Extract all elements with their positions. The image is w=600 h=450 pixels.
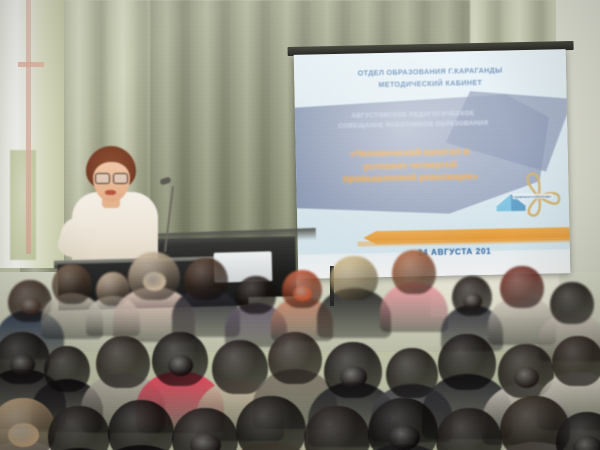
window-sill [18, 62, 44, 67]
audience-head [392, 250, 436, 294]
audience-person [108, 400, 174, 450]
audience-head [500, 266, 544, 308]
audience-head [330, 256, 378, 300]
speaker-glasses [94, 173, 129, 182]
slide-logo-text: ТЕМІРЖОЛ КАРАГАНДЫ [513, 193, 553, 199]
microphone-head [159, 176, 171, 185]
audience-person [392, 250, 436, 364]
audience-head [436, 408, 502, 450]
slide-logo: ТЕМІРЖОЛ КАРАГАНДЫ [492, 169, 563, 232]
window-frame [26, 0, 31, 254]
audience-head [550, 282, 594, 324]
audience-head [96, 336, 150, 388]
audience-head [44, 346, 90, 392]
audience-person [556, 412, 600, 450]
audience-hair-bun [20, 298, 40, 315]
audience-head [48, 406, 110, 450]
audience-head [304, 406, 370, 450]
audience-hair-bun [8, 423, 38, 447]
audience-head [438, 334, 496, 390]
audience [0, 236, 600, 450]
audience-person [236, 396, 306, 450]
audience-hair-bun [388, 425, 420, 450]
audience-person [304, 406, 370, 450]
audience-head [268, 332, 322, 384]
conference-photo-scene: ОТДЕЛ ОБРАЗОВАНИЯ Г.КАРАГАНДЫ МЕТОДИЧЕСК… [0, 0, 600, 450]
audience-person [48, 406, 110, 450]
audience-head [184, 258, 228, 300]
audience-person [172, 408, 238, 450]
audience-person [368, 398, 438, 450]
audience-hair-bun [573, 436, 600, 450]
audience-head [52, 264, 92, 304]
slide-title: «Человеческий капитал в условиях четверт… [304, 144, 517, 186]
audience-hair-bun [340, 366, 367, 388]
audience-hair-bun [463, 293, 481, 309]
audience-hair-bun [190, 433, 220, 450]
speaker-mouth [105, 190, 116, 195]
slide-header: ОТДЕЛ ОБРАЗОВАНИЯ Г.КАРАГАНДЫ МЕТОДИЧЕСК… [294, 63, 566, 92]
audience-head [236, 396, 306, 450]
audience-hair-bun [293, 286, 311, 301]
audience-head [236, 276, 276, 314]
audience-person [436, 408, 502, 450]
audience-hair-bun [10, 354, 36, 375]
audience-head [552, 336, 600, 386]
audience-head [108, 400, 174, 450]
